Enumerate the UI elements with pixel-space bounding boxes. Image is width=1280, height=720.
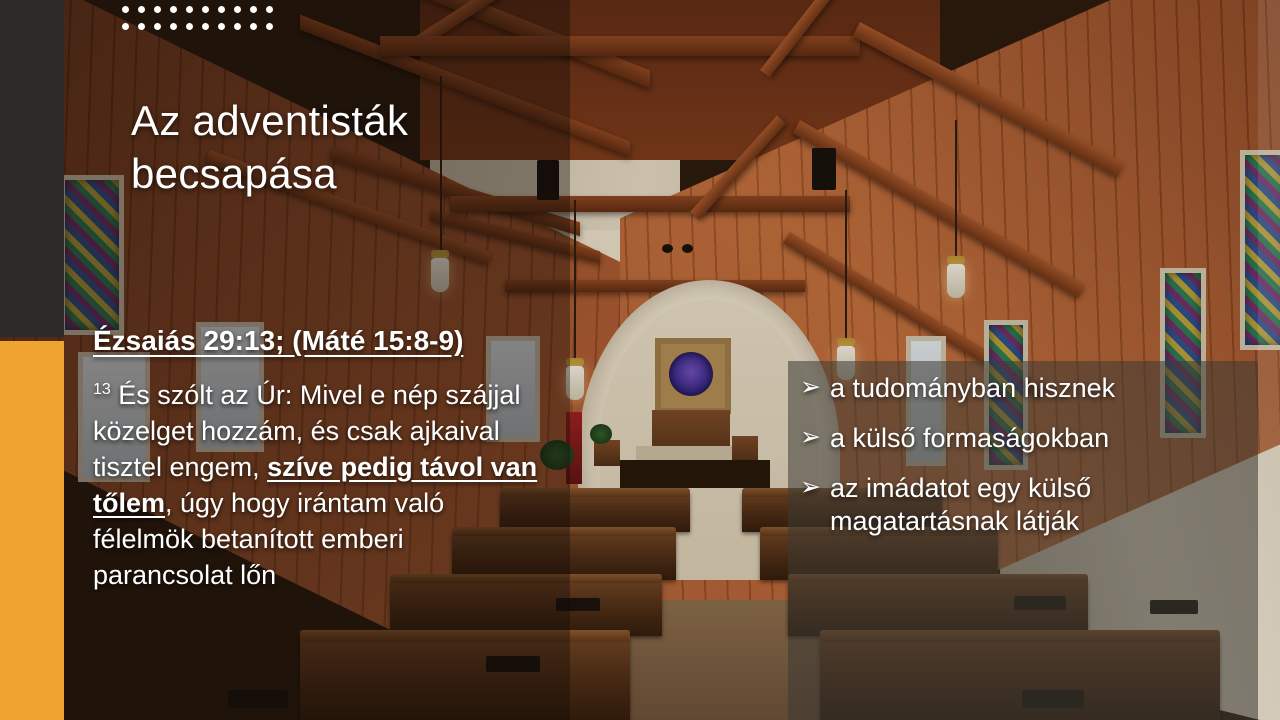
dot	[202, 6, 209, 13]
dot	[154, 23, 161, 30]
list-item: ➢ a külső formaságokban	[800, 422, 1250, 455]
dot	[154, 6, 161, 13]
dot	[186, 6, 193, 13]
dot	[234, 6, 241, 13]
arrow-bullet-icon: ➢	[800, 372, 821, 403]
dot	[122, 6, 129, 13]
slide-title: Az adventisták becsapása	[131, 95, 551, 200]
dot	[250, 6, 257, 13]
list-item-label: az imádatot egy külső magatartásnak látj…	[830, 472, 1250, 538]
list-item-label: a külső formaságokban	[830, 422, 1250, 455]
dot	[218, 23, 225, 30]
dot-grid-decoration	[122, 6, 282, 40]
bullet-list: ➢ a tudományban hisznek ➢ a külső formas…	[800, 372, 1250, 555]
dot	[218, 6, 225, 13]
arrow-bullet-icon: ➢	[800, 472, 821, 503]
dot	[138, 6, 145, 13]
dot	[138, 23, 145, 30]
presentation-slide: Az adventisták becsapása Ézsaiás 29:13; …	[0, 0, 1280, 720]
list-item: ➢ az imádatot egy külső magatartásnak lá…	[800, 472, 1250, 538]
dot	[234, 23, 241, 30]
verse-number: 13	[93, 381, 111, 398]
left-orange-accent-bar	[0, 341, 64, 720]
scripture-verse-text: 13 És szólt az Úr: Mivel e nép szájjal k…	[93, 378, 545, 593]
dot	[266, 6, 273, 13]
arrow-bullet-icon: ➢	[800, 422, 821, 453]
dot	[266, 23, 273, 30]
dot	[170, 6, 177, 13]
right-edge-light-stripe	[1258, 0, 1280, 720]
list-item: ➢ a tudományban hisznek	[800, 372, 1250, 405]
dot	[122, 23, 129, 30]
dot	[186, 23, 193, 30]
left-dark-accent-bar	[0, 0, 64, 337]
scripture-reference: Ézsaiás 29:13; (Máté 15:8-9)	[93, 325, 463, 357]
list-item-label: a tudományban hisznek	[830, 372, 1250, 405]
dot	[202, 23, 209, 30]
dot	[250, 23, 257, 30]
dot	[170, 23, 177, 30]
